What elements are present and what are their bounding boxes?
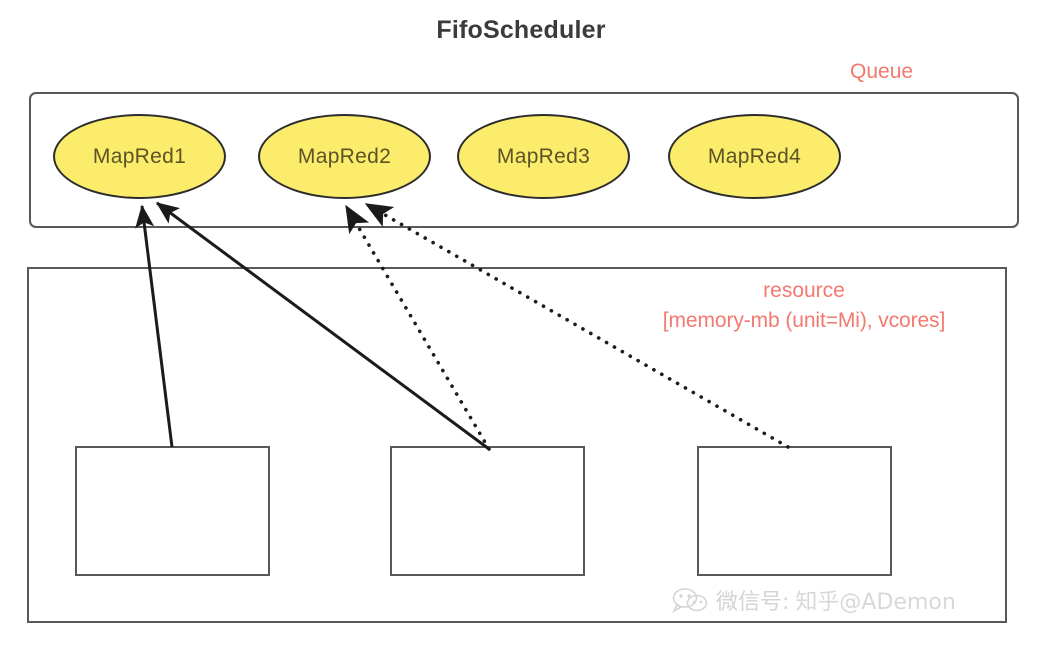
watermark-prefix: 微信号:	[716, 584, 789, 616]
job-label: MapRed3	[497, 145, 590, 169]
resource-node-box-1[interactable]	[75, 446, 270, 576]
watermark-handle: 知乎@ADemon	[795, 584, 955, 616]
resource-node-box-3[interactable]	[697, 446, 892, 576]
queue-label: Queue	[850, 60, 913, 84]
job-label: MapRed4	[708, 145, 801, 169]
job-ellipse-mapred1[interactable]: MapRed1	[53, 114, 226, 199]
job-ellipse-mapred3[interactable]: MapRed3	[457, 114, 630, 199]
watermark: 微信号: 知乎@ADemon	[672, 584, 956, 616]
diagram-canvas: FifoScheduler Queue MapRed1 MapRed2 MapR…	[0, 0, 1042, 652]
job-ellipse-mapred4[interactable]: MapRed4	[668, 114, 841, 199]
page-title: FifoScheduler	[0, 16, 1042, 45]
wechat-icon	[672, 587, 708, 613]
job-ellipse-mapred2[interactable]: MapRed2	[258, 114, 431, 199]
job-label: MapRed1	[93, 145, 186, 169]
resource-label-line2: [memory-mb (unit=Mi), vcores]	[600, 306, 1008, 336]
job-label: MapRed2	[298, 145, 391, 169]
resource-label-line1: resource	[600, 276, 1008, 306]
resource-label: resource [memory-mb (unit=Mi), vcores]	[600, 276, 1008, 336]
resource-node-box-2[interactable]	[390, 446, 585, 576]
